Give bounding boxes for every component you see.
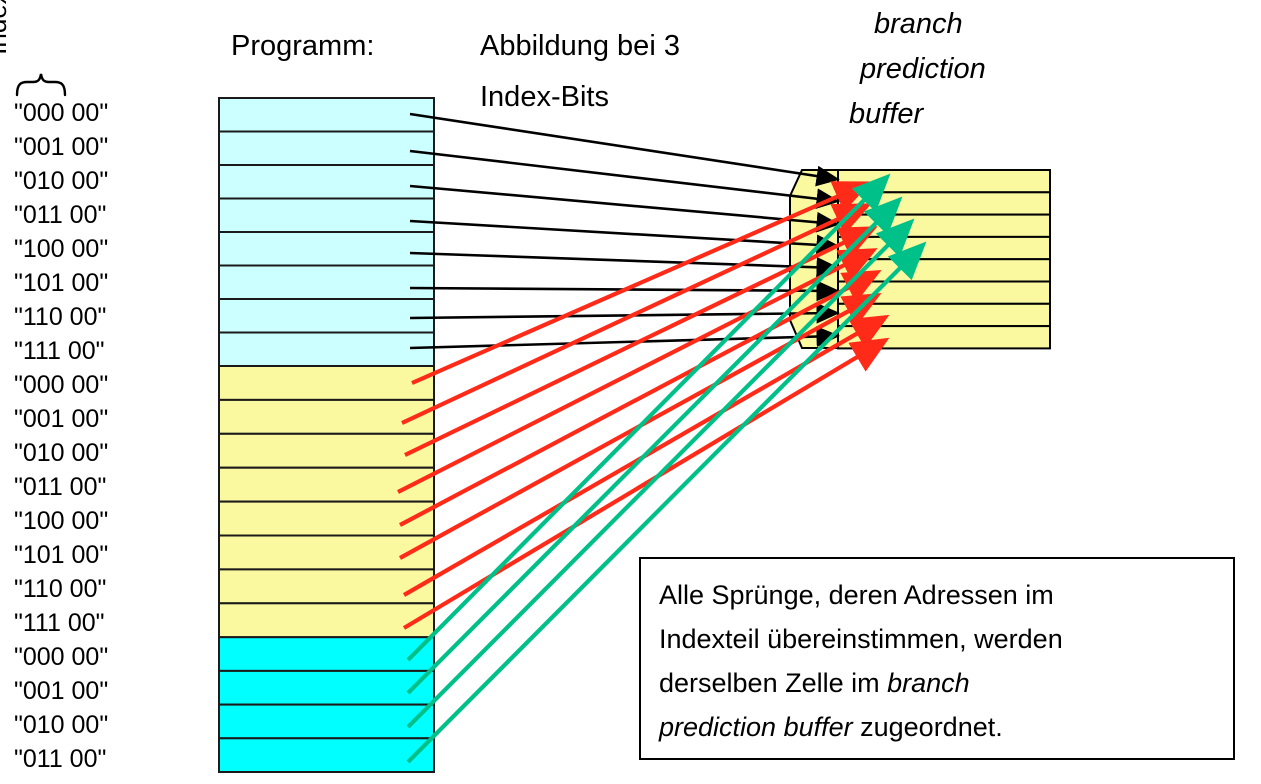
- note-line-3-plain: derselben Zelle im: [659, 668, 887, 698]
- index-label: "010 00": [14, 439, 108, 468]
- index-label: "000 00": [14, 643, 108, 672]
- index-label: "111 00": [14, 609, 105, 638]
- index-label: "001 00": [14, 405, 108, 434]
- note-line-1: Alle Sprünge, deren Adressen im: [659, 573, 1215, 617]
- black-arrow: [410, 313, 836, 318]
- note-line-3: derselben Zelle im branch: [659, 661, 1215, 705]
- index-label: "111 00": [14, 337, 105, 366]
- index-label: "001 00": [14, 133, 108, 162]
- note-line-3-italic: branch: [887, 668, 970, 698]
- index-label: "101 00": [14, 541, 108, 570]
- note-line-2: Indexteil übereinstimmen, werden: [659, 617, 1215, 661]
- black-arrow: [410, 253, 836, 268]
- note-line-4-italic: prediction buffer: [659, 712, 853, 742]
- index-label: "101 00": [14, 269, 108, 298]
- index-label: "110 00": [14, 303, 106, 332]
- black-arrow-group: [410, 114, 836, 348]
- index-label: "011 00": [14, 473, 106, 502]
- index-label: "011 00": [14, 745, 106, 774]
- program-column: [219, 98, 434, 772]
- index-label: "110 00": [14, 575, 106, 604]
- note-line-4-plain: zugeordnet.: [853, 712, 1003, 742]
- black-arrow: [410, 186, 836, 224]
- index-label: "100 00": [14, 235, 108, 264]
- explanation-note-box: Alle Sprünge, deren Adressen im Indextei…: [639, 557, 1235, 760]
- index-label: "010 00": [14, 711, 108, 740]
- black-arrow: [410, 114, 836, 179]
- black-arrow: [410, 336, 836, 348]
- diagram-canvas: Index Programm: Abbildung bei 3 Index-Bi…: [0, 0, 1261, 784]
- index-brace: [17, 74, 65, 95]
- program-block-bright-cyan: [219, 637, 434, 772]
- index-label: "001 00": [14, 677, 108, 706]
- index-label: "100 00": [14, 507, 108, 536]
- index-label: "010 00": [14, 167, 108, 196]
- index-label: "011 00": [14, 201, 106, 230]
- index-label: "000 00": [14, 371, 108, 400]
- note-line-4: prediction buffer zugeordnet.: [659, 705, 1215, 749]
- program-block-yellow: [219, 366, 434, 637]
- black-arrow: [410, 151, 836, 201]
- index-label: "000 00": [14, 99, 108, 128]
- program-block-light-cyan: [219, 98, 434, 366]
